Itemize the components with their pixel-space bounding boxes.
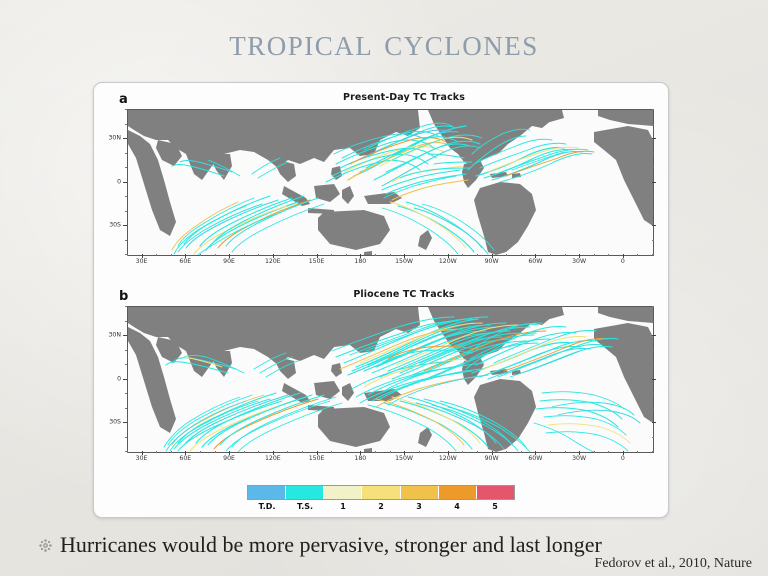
y-tick-major-right: [652, 182, 656, 183]
x-axis-label: 90E: [223, 258, 235, 265]
x-axis-label: 90W: [485, 258, 499, 265]
x-axis-label: 60E: [179, 455, 191, 462]
x-tick-minor: [477, 254, 478, 256]
colorbar-label-ts: T.S.: [286, 502, 324, 511]
x-tick-minor: [506, 254, 507, 256]
x-tick-minor: [331, 254, 332, 256]
citation: Fedorov et al., 2010, Nature: [595, 556, 752, 572]
x-tick-minor: [550, 451, 551, 453]
y-tick-minor-right: [652, 109, 654, 110]
x-tick-minor: [521, 254, 522, 256]
land-masses-a: [128, 110, 653, 255]
x-axis-label: 90W: [485, 455, 499, 462]
x-axis-label: 150W: [395, 258, 413, 265]
bullet-row: Hurricanes would be more pervasive, stro…: [38, 533, 738, 557]
x-tick-minor: [258, 451, 259, 453]
x-tick-minor: [171, 254, 172, 256]
colorbar-label-1: 1: [324, 502, 362, 511]
x-axis-label: 150E: [309, 455, 325, 462]
x-tick-minor: [215, 254, 216, 256]
y-axis-right-a: [652, 109, 662, 254]
y-tick-minor-right: [652, 408, 654, 409]
x-axis-label: 120W: [439, 258, 457, 265]
x-tick-minor: [244, 451, 245, 453]
y-tick-major-right: [652, 138, 656, 139]
x-tick-minor: [419, 254, 420, 256]
x-tick-minor: [156, 451, 157, 453]
x-axis-label: 60W: [528, 455, 542, 462]
x-tick-minor: [302, 254, 303, 256]
colorbar-label-td: T.D.: [248, 502, 286, 511]
colorbar-label-4: 4: [438, 502, 476, 511]
y-tick-minor-right: [652, 124, 654, 125]
y-tick-minor-right: [652, 306, 654, 307]
y-tick-minor-right: [652, 350, 654, 351]
y-axis-label: 30S: [109, 419, 121, 426]
x-tick-minor: [419, 451, 420, 453]
y-tick-minor-right: [652, 364, 654, 365]
panel-present-day: a Present-Day TC Tracks 30N030S: [94, 87, 668, 285]
x-axis-label: 0: [621, 455, 625, 462]
x-tick-minor: [200, 254, 201, 256]
y-axis-b: 30N030S: [94, 306, 127, 451]
colorbar-cell-ts: [286, 486, 324, 499]
x-axis-label: 60W: [528, 258, 542, 265]
x-tick-minor: [433, 451, 434, 453]
x-tick-minor: [433, 254, 434, 256]
x-tick-minor: [287, 451, 288, 453]
x-tick-minor: [127, 451, 128, 453]
y-tick-minor-right: [652, 437, 654, 438]
x-tick-minor: [594, 254, 595, 256]
x-axis-label: 120E: [265, 455, 281, 462]
panel-title-b: Pliocene TC Tracks: [94, 289, 668, 300]
y-tick-minor-right: [652, 393, 654, 394]
x-tick-minor: [506, 451, 507, 453]
figure-card: a Present-Day TC Tracks 30N030S: [93, 82, 669, 518]
y-axis-label: 0: [117, 375, 121, 382]
colorbar-label-3: 3: [400, 502, 438, 511]
x-tick-minor: [637, 451, 638, 453]
y-axis-label: 0: [117, 178, 121, 185]
x-tick-minor: [565, 254, 566, 256]
colorbar-cell-5: [477, 486, 514, 499]
x-tick-minor: [258, 254, 259, 256]
x-tick-minor: [302, 451, 303, 453]
colorbar-cell-1: [324, 486, 362, 499]
x-tick-minor: [346, 451, 347, 453]
colorbar-cell-4: [439, 486, 477, 499]
y-tick-major-right: [652, 335, 656, 336]
map-plot-a: [127, 109, 654, 256]
x-tick-minor: [637, 254, 638, 256]
x-axis-label: 30E: [136, 455, 148, 462]
y-tick-minor-right: [652, 153, 654, 154]
panel-pliocene: b Pliocene TC Tracks 30N030S: [94, 284, 668, 482]
colorbar-labels: T.D.T.S.12345: [248, 502, 514, 511]
panel-title-a: Present-Day TC Tracks: [94, 92, 668, 103]
y-tick-minor-right: [652, 321, 654, 322]
x-axis-label: 180: [354, 455, 366, 462]
colorbar-cell-2: [362, 486, 400, 499]
x-axis-label: 30W: [572, 258, 586, 265]
page-title: Tropical Cyclones: [0, 22, 768, 64]
y-tick-major-right: [652, 225, 656, 226]
x-tick-minor: [477, 451, 478, 453]
colorbar-label-5: 5: [476, 502, 514, 511]
y-tick-minor-right: [652, 196, 654, 197]
x-tick-minor: [390, 451, 391, 453]
colorbar-strip: [247, 485, 515, 500]
x-tick-minor: [565, 451, 566, 453]
map-svg-a: [128, 110, 653, 255]
colorbar-cell-td: [248, 486, 286, 499]
y-tick-minor-right: [652, 240, 654, 241]
x-tick-minor: [652, 451, 653, 453]
x-tick-minor: [652, 254, 653, 256]
y-tick-major-right: [652, 379, 656, 380]
x-tick-minor: [462, 254, 463, 256]
map-plot-b: [127, 306, 654, 453]
y-axis-right-b: [652, 306, 662, 451]
flower-bullet-icon: [38, 538, 53, 553]
x-tick-minor: [390, 254, 391, 256]
x-tick-minor: [346, 254, 347, 256]
y-axis-label: 30N: [108, 135, 121, 142]
x-axis-label: 90E: [223, 455, 235, 462]
x-tick-minor: [287, 254, 288, 256]
colorbar-label-2: 2: [362, 502, 400, 511]
x-axis-label: 150W: [395, 455, 413, 462]
map-svg-b: [128, 307, 653, 452]
x-tick-minor: [215, 451, 216, 453]
x-tick-minor: [550, 254, 551, 256]
x-tick-minor: [608, 451, 609, 453]
x-tick-minor: [375, 451, 376, 453]
bullet-text: Hurricanes would be more pervasive, stro…: [60, 533, 602, 557]
x-tick-minor: [594, 451, 595, 453]
x-axis-a: 30E60E90E120E150E180150W120W90W60W30W0: [127, 254, 652, 270]
x-tick-minor: [244, 254, 245, 256]
x-axis-label: 120W: [439, 455, 457, 462]
x-axis-label: 60E: [179, 258, 191, 265]
intensity-colorbar: T.D.T.S.12345: [94, 485, 668, 511]
x-tick-minor: [331, 451, 332, 453]
y-axis-label: 30N: [108, 332, 121, 339]
x-axis-label: 120E: [265, 258, 281, 265]
y-tick-minor-right: [652, 211, 654, 212]
x-tick-minor: [462, 451, 463, 453]
x-axis-label: 180: [354, 258, 366, 265]
y-tick-minor-right: [652, 167, 654, 168]
x-tick-minor: [171, 451, 172, 453]
x-axis-label: 150E: [309, 258, 325, 265]
x-axis-label: 30E: [136, 258, 148, 265]
y-tick-major-right: [652, 422, 656, 423]
y-axis-label: 30S: [109, 222, 121, 229]
x-tick-minor: [521, 451, 522, 453]
x-tick-minor: [608, 254, 609, 256]
x-tick-minor: [200, 451, 201, 453]
x-axis-label: 0: [621, 258, 625, 265]
x-tick-minor: [127, 254, 128, 256]
x-tick-minor: [375, 254, 376, 256]
x-axis-label: 30W: [572, 455, 586, 462]
colorbar-cell-3: [401, 486, 439, 499]
x-tick-minor: [156, 254, 157, 256]
x-axis-b: 30E60E90E120E150E180150W120W90W60W30W0: [127, 451, 652, 467]
y-axis-a: 30N030S: [94, 109, 127, 254]
